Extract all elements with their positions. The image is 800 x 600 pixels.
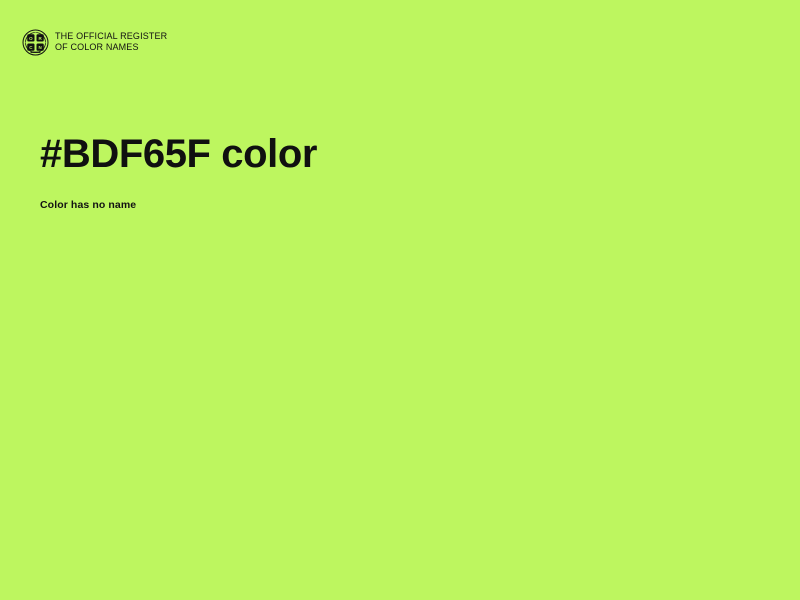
color-name-status: Color has no name xyxy=(40,198,136,212)
svg-text:O: O xyxy=(29,36,33,41)
svg-text:N: N xyxy=(38,45,41,50)
masthead-line-2: OF COLOR NAMES xyxy=(55,42,167,53)
color-page: O R C N THE OFFICIAL REGISTER OF COLOR N… xyxy=(0,0,800,600)
page-title: #BDF65F color xyxy=(40,131,317,177)
official-register-seal-icon: O R C N xyxy=(22,29,49,56)
masthead-line-1: THE OFFICIAL REGISTER xyxy=(55,31,167,42)
masthead-logo[interactable]: O R C N THE OFFICIAL REGISTER OF COLOR N… xyxy=(22,29,167,56)
masthead-wordmark: THE OFFICIAL REGISTER OF COLOR NAMES xyxy=(55,29,167,52)
